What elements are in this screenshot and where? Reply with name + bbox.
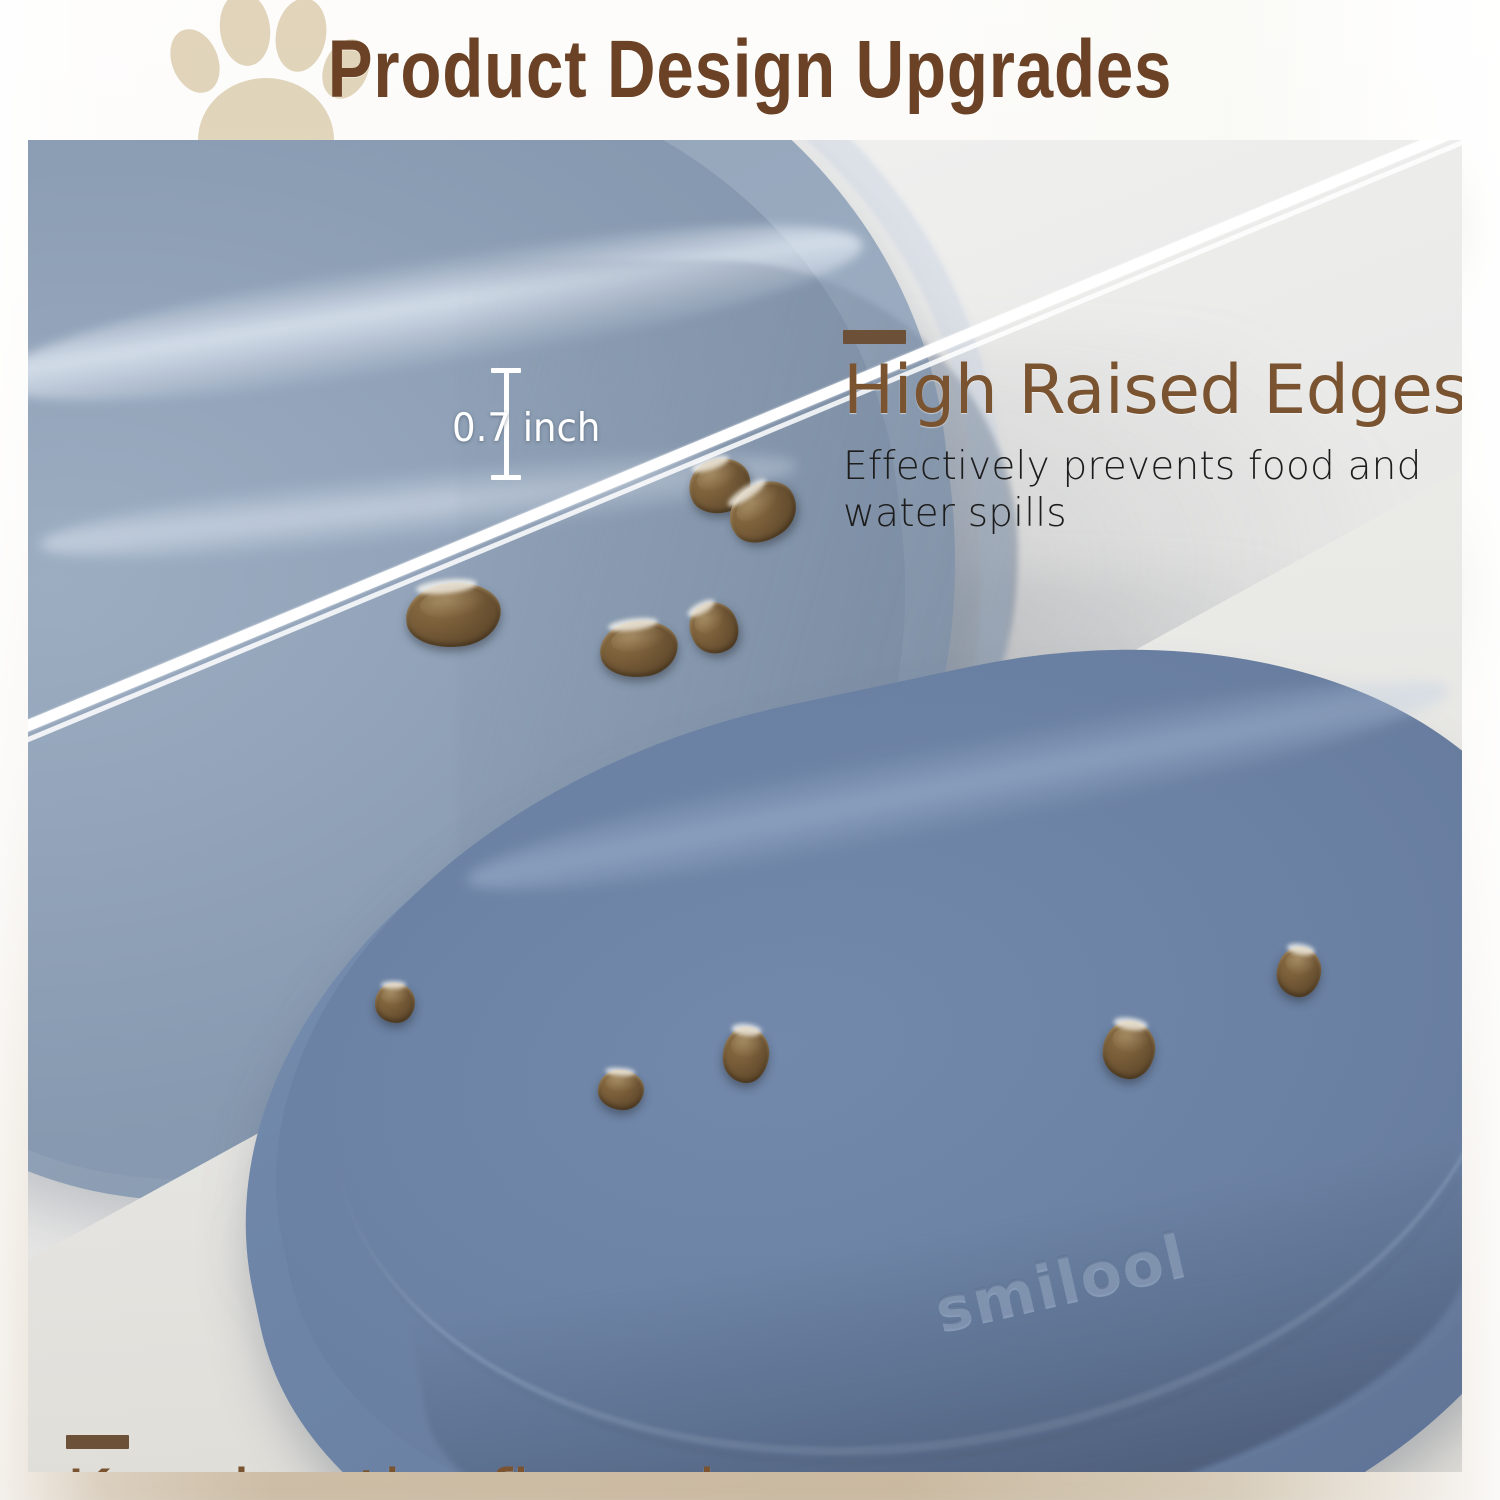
callout-high-raised-edges: High Raised Edges Effectively prevents f… bbox=[843, 330, 1462, 538]
callout-heading: Keeping the floor clean bbox=[66, 1461, 1065, 1472]
kibble-highlight bbox=[381, 981, 407, 990]
page-title: Product Design Upgrades bbox=[135, 0, 1365, 140]
callout-keeping-floor-clean: Keeping the floor clean Minimizes time s… bbox=[66, 1435, 1065, 1472]
header-bar: Product Design Upgrades bbox=[0, 0, 1500, 140]
dimension-label: 0.7 inch bbox=[452, 406, 600, 451]
product-infographic: Product Design Upgrades smilool bbox=[0, 0, 1500, 1500]
callout-dash-icon bbox=[843, 330, 906, 344]
callout-dash-icon bbox=[66, 1435, 129, 1449]
callout-subtext: Effectively prevents food and water spil… bbox=[843, 443, 1462, 538]
kibble-piece-lower bbox=[375, 983, 415, 1023]
product-photo-collage: smilool 0.7 inch High Raised Edges Effec… bbox=[28, 140, 1462, 1472]
photo-frame: smilool 0.7 inch High Raised Edges Effec… bbox=[28, 140, 1462, 1472]
callout-heading: High Raised Edges bbox=[843, 356, 1462, 427]
